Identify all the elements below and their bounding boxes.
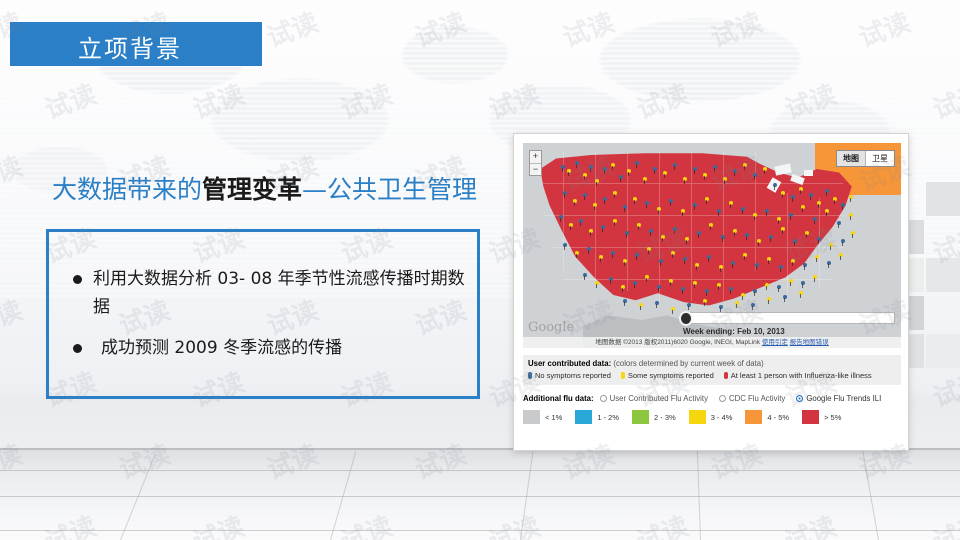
google-logo: Google xyxy=(528,320,574,335)
radio-user-contributed-icon[interactable] xyxy=(600,395,607,402)
scale-swatch xyxy=(745,410,762,424)
scale-item: > 5% xyxy=(802,410,841,424)
additional-flu-data: Additional flu data: User Contributed Fl… xyxy=(523,394,901,403)
scale-swatch xyxy=(689,410,706,424)
map-attribution-text: 地图数据 ©2013 版权2011)6020 Google, INEGI, Ma… xyxy=(595,339,760,346)
slide-title-bar: 立项背景 xyxy=(10,22,262,66)
scale-item: < 1% xyxy=(523,410,562,424)
bullet-text: 利用大数据分析 03- 08 年季节性流感传播时期数据 xyxy=(93,266,473,321)
scale-label: 4 - 5% xyxy=(767,413,789,422)
page-title: 大数据带来的管理变革—公共卫生管理 xyxy=(52,170,477,206)
map-zoom-controls[interactable]: + − xyxy=(529,150,542,176)
bullet-text: 成功预测 2009 冬季流感的传播 xyxy=(93,335,342,363)
scale-label: 3 - 4% xyxy=(711,413,733,422)
pin-yellow-icon xyxy=(621,372,625,379)
scale-swatch xyxy=(802,410,819,424)
scale-item: 4 - 5% xyxy=(745,410,789,424)
zoom-in-button[interactable]: + xyxy=(530,151,541,164)
headline-part-1: 大数据带来的 xyxy=(52,175,202,204)
map-type-satellite-button[interactable]: 卫星 xyxy=(866,151,894,166)
headline-part-3: —公共卫生管理 xyxy=(302,175,477,204)
pin-blue-icon xyxy=(528,372,532,379)
scale-item: 1 - 2% xyxy=(575,410,619,424)
bullet-dot-icon xyxy=(73,275,82,284)
floor-vline xyxy=(520,449,534,540)
timeline-slider[interactable] xyxy=(685,312,895,324)
pin-red-icon xyxy=(724,372,728,379)
floor-vline xyxy=(862,449,879,540)
scale-swatch xyxy=(523,410,540,424)
headline-part-2: 管理变革 xyxy=(202,175,302,204)
slide-title-text: 立项背景 xyxy=(78,29,182,64)
terms-of-use-link[interactable]: 使用引定 xyxy=(762,339,788,346)
list-item: 成功预测 2009 冬季流感的传播 xyxy=(73,335,473,363)
report-map-error-link[interactable]: 报告地图错误 xyxy=(790,339,829,346)
user-contributed-legend: User contributed data: (colors determine… xyxy=(523,355,901,385)
user-contributed-title: User contributed data: xyxy=(528,359,611,368)
flu-trends-map-card: + − 地图 卫星 Week ending: Feb 10, 2013 Goog… xyxy=(513,133,909,451)
legend-ili-person: At least 1 person with Influenza-like il… xyxy=(731,371,872,380)
bullet-box: 利用大数据分析 03- 08 年季节性流感传播时期数据 成功预测 2009 冬季… xyxy=(46,229,480,399)
timeline-slider-handle[interactable] xyxy=(679,311,693,326)
map-type-map-button[interactable]: 地图 xyxy=(837,151,866,166)
scale-swatch xyxy=(632,410,649,424)
user-contributed-title-row: User contributed data: (colors determine… xyxy=(528,359,896,368)
floor-vline xyxy=(697,448,701,540)
user-contributed-items: No symptoms reported Some symptoms repor… xyxy=(528,371,896,380)
floor-hline xyxy=(0,496,960,497)
radio-cdc-label[interactable]: CDC Flu Activity xyxy=(729,394,785,403)
floor-hline xyxy=(0,470,960,471)
scale-item: 2 - 3% xyxy=(632,410,676,424)
radio-cdc-icon[interactable] xyxy=(719,395,726,402)
slide-canvas: 立项背景 大数据带来的管理变革—公共卫生管理 利用大数据分析 03- 08 年季… xyxy=(0,0,960,540)
legend-no-symptoms: No symptoms reported xyxy=(535,371,611,380)
scale-swatch xyxy=(575,410,592,424)
additional-flu-data-title: Additional flu data: xyxy=(523,394,594,403)
scale-label: > 5% xyxy=(824,413,841,422)
map-attribution: 地图数据 ©2013 版权2011)6020 Google, INEGI, Ma… xyxy=(523,337,901,348)
legend-some-symptoms: Some symptoms reported xyxy=(628,371,714,380)
additional-flu-data-row: Additional flu data: User Contributed Fl… xyxy=(523,394,901,403)
scale-item: 3 - 4% xyxy=(689,410,733,424)
radio-google-flu-trends-icon[interactable] xyxy=(796,395,803,402)
scale-label: 1 - 2% xyxy=(597,413,619,422)
perspective-floor xyxy=(0,448,960,540)
floor-hline xyxy=(0,530,960,531)
bullet-list: 利用大数据分析 03- 08 年季节性流感传播时期数据 成功预测 2009 冬季… xyxy=(73,266,473,377)
scale-label: < 1% xyxy=(545,413,562,422)
zoom-out-button[interactable]: − xyxy=(530,164,541,176)
floor-vline xyxy=(120,455,155,540)
week-ending-label: Week ending: Feb 10, 2013 xyxy=(683,327,785,336)
radio-user-contributed-label[interactable]: User Contributed Flu Activity xyxy=(610,394,708,403)
list-item: 利用大数据分析 03- 08 年季节性流感传播时期数据 xyxy=(73,266,473,321)
flu-scale-legend: < 1% 1 - 2% 2 - 3% 3 - 4% 4 - 5% > 5% xyxy=(523,410,901,424)
radio-google-flu-trends-label[interactable]: Google Flu Trends ILI xyxy=(806,394,881,403)
scale-label: 2 - 3% xyxy=(654,413,676,422)
user-contributed-note: (colors determined by current week of da… xyxy=(613,359,763,368)
bullet-dot-icon xyxy=(73,344,82,353)
map-type-toggle[interactable]: 地图 卫星 xyxy=(836,150,895,167)
map-canvas[interactable]: + − 地图 卫星 Week ending: Feb 10, 2013 Goog… xyxy=(523,143,901,348)
